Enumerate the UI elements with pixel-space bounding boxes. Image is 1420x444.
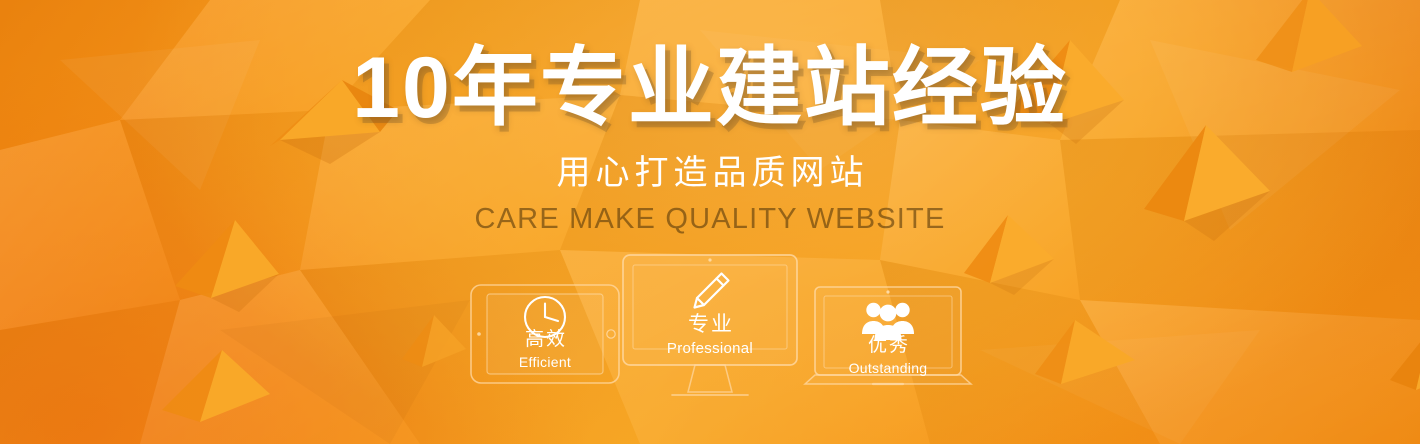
subtitle-english: CARE MAKE QUALITY WEBSITE (0, 201, 1420, 237)
decorative-pyramid-4 (1140, 125, 1300, 265)
clock-icon (518, 290, 572, 344)
feature-card-outstanding[interactable]: 优秀 Outstanding (803, 286, 973, 394)
page-title: 10年专业建站经验 (0, 40, 1420, 136)
promo-banner: 10年专业建站经验 用心打造品质网站 CARE MAKE QUALITY WEB… (0, 0, 1420, 444)
feature-card-professional[interactable]: 专业 Professional (622, 254, 798, 402)
feature-device-group: 高效 Efficient 专业 (0, 252, 1420, 412)
subtitle-chinese: 用心打造品质网站 (0, 152, 1420, 194)
pencil-icon (688, 268, 734, 314)
feature-card-efficient[interactable]: 高效 Efficient (470, 284, 620, 384)
people-group-icon (860, 300, 916, 342)
